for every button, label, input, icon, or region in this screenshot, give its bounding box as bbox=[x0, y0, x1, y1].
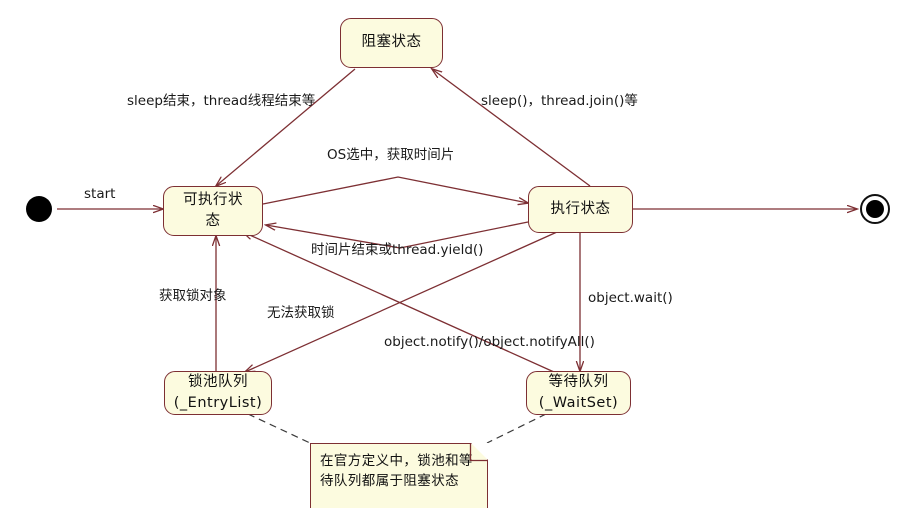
state-entry-list-label: 锁池队列 (_EntryList) bbox=[165, 372, 271, 414]
state-running[interactable]: 执行状态 bbox=[528, 186, 633, 233]
edge-blocked-to-runnable bbox=[216, 69, 355, 186]
edge-runnable-to-running bbox=[263, 177, 528, 204]
state-blocked-label: 阻塞状态 bbox=[341, 32, 442, 53]
edge-label-running-to-blocked: sleep()，thread.join()等 bbox=[481, 93, 638, 109]
end-node-inner bbox=[866, 200, 884, 218]
note-fold-line-icon bbox=[464, 443, 488, 467]
note-text: 在官方定义中，锁池和等待队列都属于阻塞状态 bbox=[320, 451, 477, 492]
edge-label-runnable-to-running: OS选中，获取时间片 bbox=[327, 147, 454, 163]
note-link-wait bbox=[487, 414, 546, 443]
note-link-entry bbox=[248, 414, 310, 443]
edge-label-wait-to-runnable: object.notify()/object.notifyAll() bbox=[384, 334, 595, 350]
edge-label-running-to-wait: object.wait() bbox=[588, 290, 673, 306]
edge-label-blocked-to-runnable: sleep结束，thread线程结束等 bbox=[127, 93, 315, 109]
state-runnable-label: 可执行状 态 bbox=[164, 190, 262, 232]
state-wait-set-label: 等待队列 (_WaitSet) bbox=[527, 372, 630, 414]
edge-label-running-to-runnable: 时间片结束或thread.yield() bbox=[311, 242, 483, 258]
note-box: 在官方定义中，锁池和等待队列都属于阻塞状态 bbox=[310, 443, 488, 508]
end-node bbox=[860, 194, 890, 224]
edge-label-running-to-entry: 无法获取锁 bbox=[267, 305, 335, 321]
state-entry-list[interactable]: 锁池队列 (_EntryList) bbox=[164, 371, 272, 415]
edge-running-to-blocked bbox=[432, 69, 590, 186]
state-blocked[interactable]: 阻塞状态 bbox=[340, 18, 443, 68]
diagram-canvas: 阻塞状态 可执行状 态 执行状态 锁池队列 (_EntryList) 等待队列 … bbox=[0, 0, 921, 508]
state-runnable[interactable]: 可执行状 态 bbox=[163, 186, 263, 236]
edge-label-entry-to-runnable: 获取锁对象 bbox=[159, 288, 227, 304]
state-wait-set[interactable]: 等待队列 (_WaitSet) bbox=[526, 371, 631, 415]
start-node bbox=[26, 196, 52, 222]
state-running-label: 执行状态 bbox=[529, 199, 632, 220]
edge-label-start: start bbox=[84, 186, 115, 202]
